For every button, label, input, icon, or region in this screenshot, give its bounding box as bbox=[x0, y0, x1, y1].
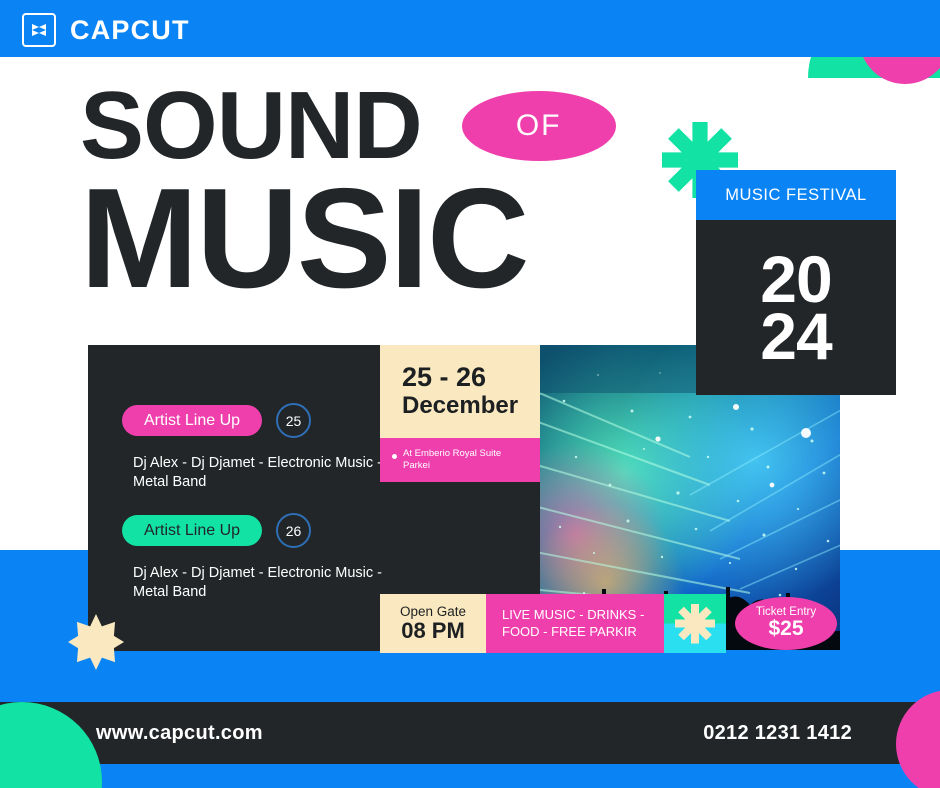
lineup-day-26: 26 bbox=[276, 513, 311, 548]
footer-bar: www.capcut.com 0212 1231 1412 bbox=[0, 702, 940, 764]
poster-canvas: CAPCUT SOUND OF MUSIC MUSIC FESTIVAL 20 … bbox=[0, 0, 940, 788]
open-gate-time: 08 PM bbox=[401, 619, 465, 643]
perks-box: LIVE MUSIC - DRINKS - FOOD - FREE PARKIR bbox=[486, 594, 664, 653]
asterisk-icon bbox=[675, 604, 715, 644]
date-month: December bbox=[402, 393, 540, 419]
lineup-pill-26[interactable]: Artist Line Up bbox=[122, 515, 262, 546]
venue-text: At Emberio Royal Suite Parkei bbox=[403, 448, 528, 472]
asterisk-box bbox=[664, 594, 726, 653]
venue-banner: At Emberio Royal Suite Parkei bbox=[380, 438, 540, 482]
festival-badge-year: 20 24 bbox=[696, 220, 896, 395]
info-strip: Open Gate 08 PM LIVE MUSIC - DRINKS - FO… bbox=[380, 594, 726, 653]
open-gate-label: Open Gate bbox=[400, 604, 466, 619]
page-title: SOUND OF MUSIC bbox=[80, 78, 616, 310]
date-card-top: 25 - 26 December bbox=[380, 345, 540, 438]
open-gate-box: Open Gate 08 PM bbox=[380, 594, 486, 653]
lineup-pill-25[interactable]: Artist Line Up bbox=[122, 405, 262, 436]
headline-of-label: OF bbox=[516, 109, 562, 143]
ticket-entry-price: $25 bbox=[768, 618, 803, 640]
footer-phone[interactable]: 0212 1231 1412 bbox=[703, 722, 852, 745]
date-range: 25 - 26 bbox=[402, 363, 540, 393]
lineup-block-25: Artist Line Up 25 Dj Alex - Dj Djamet - … bbox=[122, 403, 383, 493]
lineup-block-26: Artist Line Up 26 Dj Alex - Dj Djamet - … bbox=[122, 513, 383, 603]
festival-badge-label: MUSIC FESTIVAL bbox=[696, 170, 896, 220]
lineup-header-25: Artist Line Up 25 bbox=[122, 403, 383, 438]
lineup-artists-25: Dj Alex - Dj Djamet - Electronic Music -… bbox=[122, 454, 383, 493]
lineup-header-26: Artist Line Up 26 bbox=[122, 513, 383, 548]
bullet-icon bbox=[392, 454, 397, 459]
lineup-artists-26: Dj Alex - Dj Djamet - Electronic Music -… bbox=[122, 564, 383, 603]
capcut-logo-icon bbox=[22, 13, 56, 47]
ticket-entry-badge[interactable]: Ticket Entry $25 bbox=[735, 597, 837, 650]
brand-name: CAPCUT bbox=[70, 15, 190, 46]
footer-website[interactable]: www.capcut.com bbox=[96, 722, 263, 745]
brand-bar: CAPCUT bbox=[0, 0, 940, 57]
headline-word-music: MUSIC bbox=[80, 168, 616, 310]
lineup-day-25: 25 bbox=[276, 403, 311, 438]
brand-logo[interactable]: CAPCUT bbox=[22, 13, 190, 47]
perks-text: LIVE MUSIC - DRINKS - FOOD - FREE PARKIR bbox=[502, 607, 664, 641]
year-bottom: 24 bbox=[760, 308, 831, 365]
date-card: 25 - 26 December At Emberio Royal Suite … bbox=[380, 345, 540, 482]
festival-badge: MUSIC FESTIVAL 20 24 bbox=[696, 170, 896, 395]
headline-of-badge: OF bbox=[462, 91, 616, 161]
